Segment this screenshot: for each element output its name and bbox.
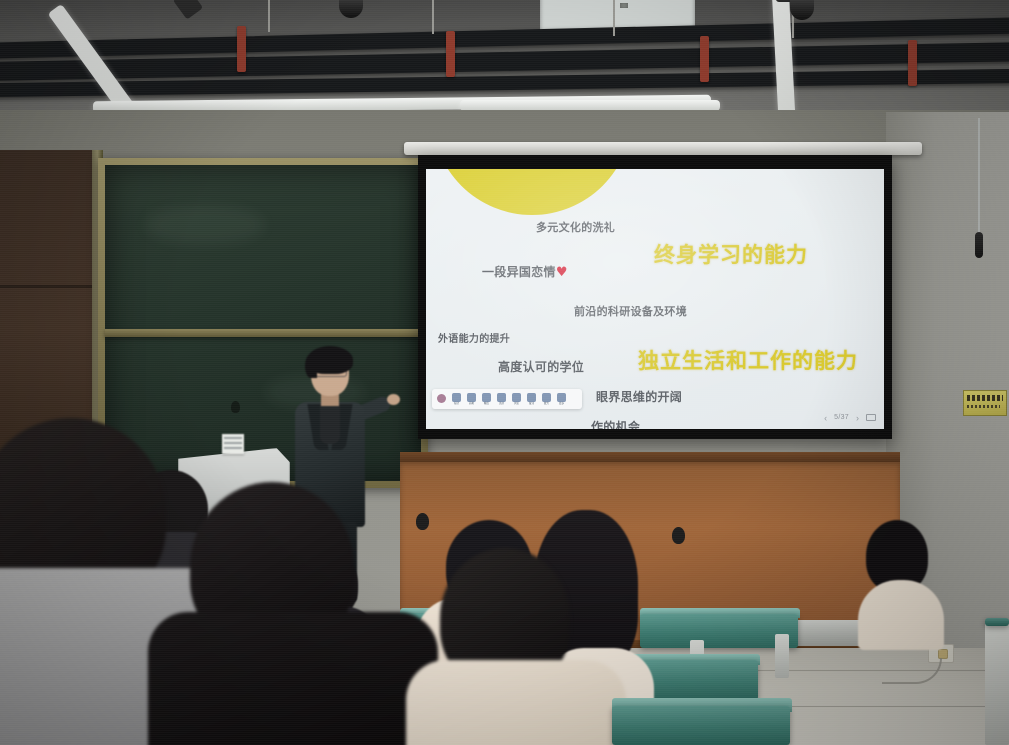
slide-text-label: 一段异国恋情 <box>482 265 556 279</box>
student-body <box>406 660 626 745</box>
presentation-slide: 多元文化的洗礼 一段异国恋情♥ 前沿的科研设备及环境 外语能力的提升 高度认可的… <box>426 169 884 429</box>
presenter-hand <box>387 394 400 405</box>
student-body <box>148 612 438 745</box>
projector-screen-roller <box>404 142 922 155</box>
light-hanger <box>432 0 434 34</box>
slide-headline: 独立生活和工作的能力 <box>638 345 858 375</box>
ceiling-vent-panel <box>620 3 628 8</box>
next-slide-button[interactable]: › <box>856 413 859 423</box>
sign-title-line <box>967 395 1003 401</box>
microphone-cable <box>978 118 980 236</box>
slide-text-item: 一段异国恋情♥ <box>482 263 568 280</box>
slide-navigation[interactable]: ‹ 5/37 › <box>824 410 876 425</box>
hanging-microphone <box>975 232 983 258</box>
zoom-icon[interactable]: 放大 <box>542 393 551 406</box>
slide-decorative-arc <box>432 169 632 215</box>
projector-screen: 多元文化的洗礼 一段异国恋情♥ 前沿的科研设备及环境 外语能力的提升 高度认可的… <box>418 155 892 439</box>
screen-icon[interactable] <box>866 414 876 421</box>
presenter-hair <box>305 354 317 378</box>
tube-end-cap <box>173 0 203 20</box>
ceiling-speaker <box>339 0 363 18</box>
pointer-icon[interactable]: 指针 <box>452 393 461 406</box>
slide-headline: 终身学习的能力 <box>654 239 808 269</box>
wainscot-rail <box>400 452 900 462</box>
record-icon[interactable] <box>437 394 446 404</box>
chalk-ledge <box>105 329 421 337</box>
slide-page-indicator: 5/37 <box>834 414 849 421</box>
chalk-smudge <box>145 205 265 245</box>
slide-text-item: 作的机会 <box>591 418 640 429</box>
wall-knob <box>416 513 429 530</box>
prev-slide-button[interactable]: ‹ <box>824 413 827 423</box>
note-icon[interactable]: 备注 <box>527 393 536 406</box>
classroom-scene: 多元文化的洗礼 一段异国恋情♥ 前沿的科研设备及环境 外语能力的提升 高度认可的… <box>0 0 1009 745</box>
floor-cabinet-top <box>985 618 1009 626</box>
grid-icon[interactable]: 浏览 <box>512 393 521 406</box>
presenter-shirt <box>320 404 340 444</box>
light-hanger <box>268 0 270 32</box>
blank-icon[interactable]: 黑屏 <box>497 393 506 406</box>
chair-backrest <box>612 706 790 745</box>
pen-icon[interactable]: 画笔 <box>467 393 476 406</box>
pipe-clamp <box>237 26 246 72</box>
pipe-clamp <box>908 40 917 86</box>
sign-body-line <box>967 405 1000 408</box>
slide-presenter-toolbar[interactable]: 指针 画笔 橡皮 黑屏 浏览 <box>432 389 582 409</box>
lectern-paper <box>222 434 244 454</box>
chair-frame <box>775 634 789 678</box>
slide-text-item: 高度认可的学位 <box>498 358 584 375</box>
slide-text-item: 前沿的科研设备及环境 <box>574 303 687 319</box>
slide-text-item: 眼界思维的开阔 <box>596 388 682 405</box>
safety-notice-sign <box>963 390 1007 416</box>
more-icon[interactable]: 更多 <box>557 393 566 406</box>
ceiling <box>0 0 1009 118</box>
wall-knob <box>672 527 685 544</box>
light-hanger <box>613 0 615 36</box>
slide-text-item: 多元文化的洗礼 <box>536 219 615 235</box>
eraser-icon[interactable]: 橡皮 <box>482 393 491 406</box>
floor-cabinet <box>985 622 1009 745</box>
pipe-clamp <box>446 31 455 77</box>
student-body <box>858 580 944 650</box>
heart-icon: ♥ <box>556 265 568 280</box>
wall-panel-seam <box>0 285 96 288</box>
board-knob <box>231 401 240 413</box>
slide-text-item: 外语能力的提升 <box>438 330 510 345</box>
pipe-clamp <box>700 36 709 82</box>
ceiling-speaker <box>790 0 814 20</box>
